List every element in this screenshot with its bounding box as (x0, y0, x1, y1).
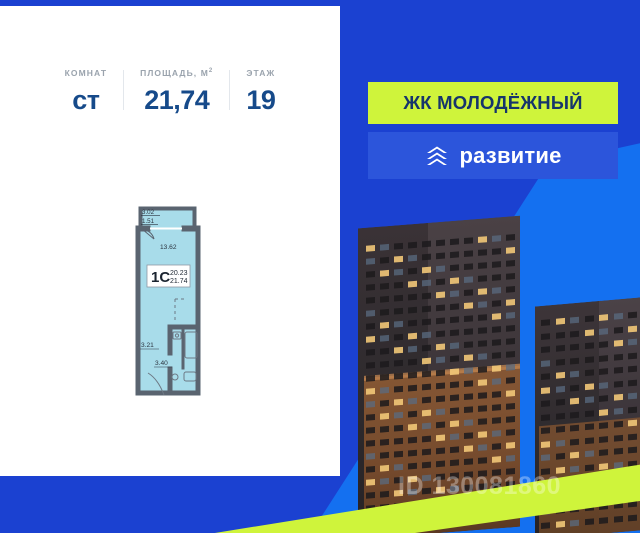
stat-rooms-value: ст (72, 87, 99, 114)
developer-banner: развитие (368, 132, 618, 179)
listing-image: КОМНАТ ст ПЛОЩАДЬ, М2 21,74 ЭТАЖ 19 (0, 0, 640, 533)
label-hall: 3.21 (141, 342, 154, 349)
stat-area-label: ПЛОЩАДЬ, М2 (140, 68, 213, 78)
stat-floor-label: ЭТАЖ (246, 68, 275, 78)
label-balcony-width: 1.51 (142, 218, 155, 225)
developer-name-text: развитие (459, 143, 561, 169)
floor-plan[interactable]: 3.02 1.51 13.62 3.21 3.40 1С 20.23 21.74 (120, 199, 230, 399)
stat-rooms-label: КОМНАТ (65, 68, 108, 78)
stats-row: КОМНАТ ст ПЛОЩАДЬ, М2 21,74 ЭТАЖ 19 (0, 68, 340, 114)
complex-name-banner: ЖК МОЛОДЁЖНЫЙ (368, 82, 618, 124)
stat-floor-value: 19 (246, 87, 275, 114)
stat-area-value: 21,74 (144, 87, 209, 114)
label-main-room: 13.62 (160, 244, 177, 251)
label-balcony-length: 3.02 (142, 209, 155, 216)
watermark-id: ID 130081860 (398, 472, 561, 501)
plan-badge: 1С 20.23 21.74 (147, 265, 190, 287)
badge-living-area: 20.23 (170, 270, 188, 277)
stat-floor: ЭТАЖ 19 (230, 68, 291, 114)
chevron-stack-icon (424, 144, 450, 168)
square-superscript: 2 (209, 68, 213, 74)
developer-logo-block: ЖК МОЛОДЁЖНЫЙ развитие (368, 82, 618, 179)
complex-name-text: ЖК МОЛОДЁЖНЫЙ (403, 92, 582, 114)
badge-rooms: 1С (151, 269, 170, 286)
info-card: КОМНАТ ст ПЛОЩАДЬ, М2 21,74 ЭТАЖ 19 (0, 6, 340, 476)
label-bathroom: 3.40 (155, 360, 168, 367)
badge-total-area: 21.74 (170, 278, 188, 285)
stat-rooms: КОМНАТ ст (49, 68, 124, 114)
stat-area: ПЛОЩАДЬ, М2 21,74 (124, 68, 229, 114)
